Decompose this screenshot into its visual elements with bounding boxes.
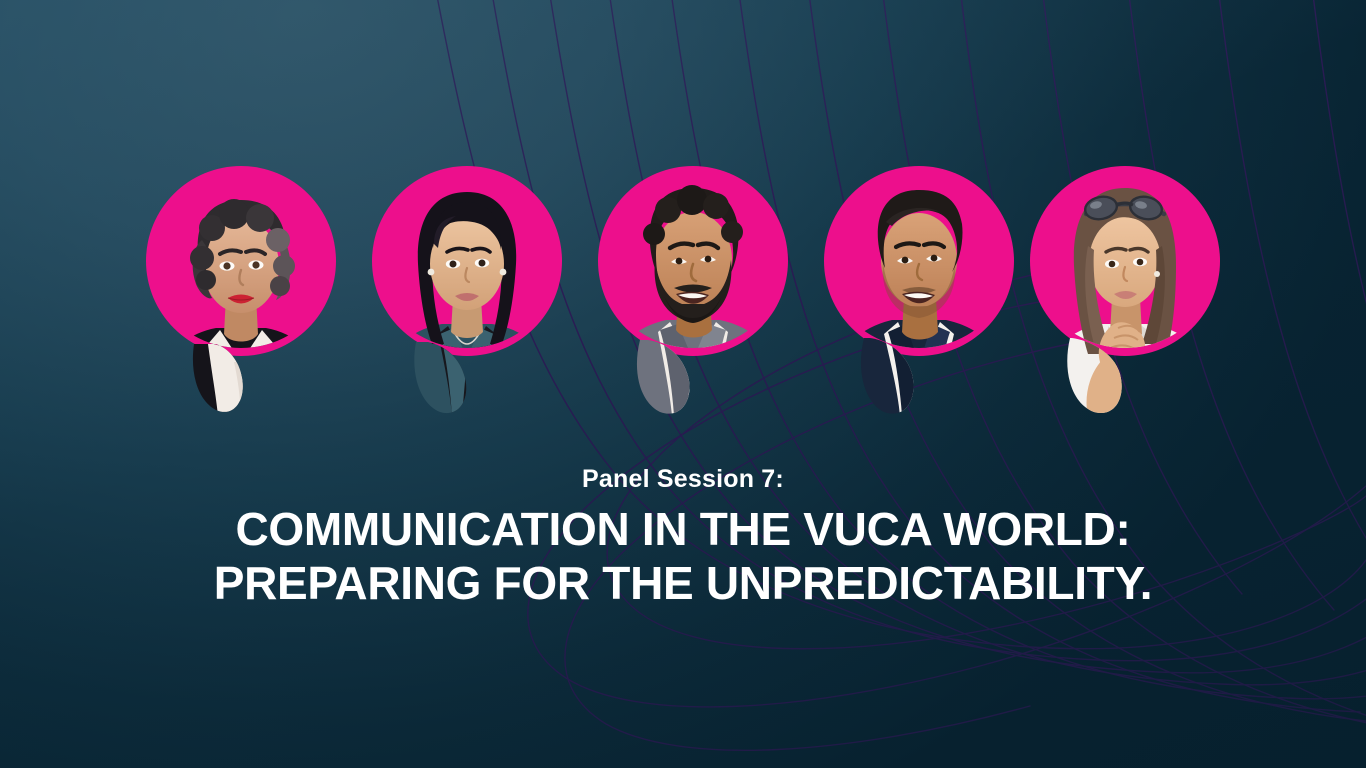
speaker-portrait-2 <box>368 148 566 416</box>
svg-text:BAWANG: BAWANG <box>1123 366 1186 401</box>
svg-text:MAKCIK: MAKCIK <box>1120 347 1185 385</box>
speaker-portrait-1 <box>142 148 340 416</box>
speaker-portrait-4 <box>820 148 1018 416</box>
speaker-portrait-row: MAKCIK BAWANG <box>0 148 1366 416</box>
speaker-portrait-3 <box>594 148 792 416</box>
speaker-photo-4 <box>820 148 1018 416</box>
panel-session-eyebrow: Panel Session 7: <box>0 462 1366 496</box>
speaker-portrait-5: MAKCIK BAWANG <box>1026 148 1224 416</box>
speaker-photo-5: MAKCIK BAWANG <box>1026 148 1224 416</box>
speaker-photo-1 <box>142 148 340 416</box>
panel-title-line-2: PREPARING FOR THE UNPREDICTABILITY. <box>0 556 1366 610</box>
speaker-photo-3 <box>594 148 792 416</box>
panel-session-slide: MAKCIK BAWANG <box>0 0 1366 768</box>
panel-title-line-1: COMMUNICATION IN THE VUCA WORLD: <box>0 502 1366 556</box>
speaker-photo-2 <box>368 148 566 416</box>
title-block: Panel Session 7: COMMUNICATION IN THE VU… <box>0 462 1366 610</box>
